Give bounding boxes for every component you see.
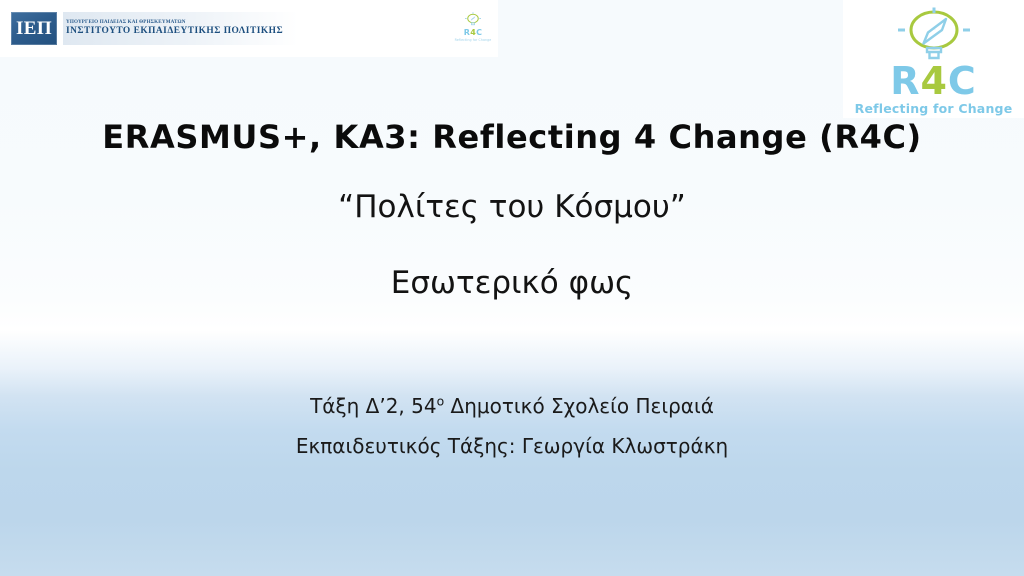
presentation-slide: ΙΕΠ ΥΠΟΥΡΓΕΙΟ ΠΑΙΔΕΙΑΣ ΚΑΙ ΘΡΗΣΚΕΥΜΑΤΩΝ … bbox=[0, 0, 1024, 576]
banner-r4c-logo: R4C Reflecting for Change bbox=[455, 12, 491, 46]
r4c-logo-panel: R4C Reflecting for Change bbox=[843, 0, 1024, 118]
iep-logo-text-block: ΥΠΟΥΡΓΕΙΟ ΠΑΙΔΕΙΑΣ ΚΑΙ ΘΡΗΣΚΕΥΜΑΤΩΝ ΙΝΣΤ… bbox=[63, 12, 298, 45]
banner-r4c-tagline: Reflecting for Change bbox=[455, 38, 492, 42]
slide-title: ERASMUS+, ΚΑ3: Reflecting 4 Change (R4C) bbox=[0, 118, 1024, 156]
credit-class-suffix: Δημοτικό Σχολείο Πειραιά bbox=[444, 394, 714, 418]
slide-subtitle-quote: “Πολίτες του Κόσμου” bbox=[0, 189, 1024, 226]
credit-teacher-line: Εκπαιδευτικός Τάξης: Γεωργία Κλωστράκη bbox=[0, 434, 1024, 458]
iep-institute-line: ΙΝΣΤΙΤΟΥΤΟ ΕΚΠΑΙΔΕΥΤΙΚΗΣ ΠΟΛΙΤΙΚΗΣ bbox=[66, 26, 298, 38]
iep-logo-mark-text: ΙΕΠ bbox=[16, 19, 52, 38]
credit-class-line: Τάξη Δ’2, 54ο Δημοτικό Σχολείο Πειραιά bbox=[0, 394, 1024, 418]
r4c-letter-4: 4 bbox=[920, 59, 947, 103]
iep-logo: ΙΕΠ ΥΠΟΥΡΓΕΙΟ ΠΑΙΔΕΙΑΣ ΚΑΙ ΘΡΗΣΚΕΥΜΑΤΩΝ … bbox=[11, 12, 298, 45]
banner-lightbulb-compass-icon bbox=[462, 12, 484, 28]
iep-header-banner: ΙΕΠ ΥΠΟΥΡΓΕΙΟ ΠΑΙΔΕΙΑΣ ΚΑΙ ΘΡΗΣΚΕΥΜΑΤΩΝ … bbox=[0, 0, 498, 57]
iep-logo-mark: ΙΕΠ bbox=[11, 12, 57, 45]
r4c-letter-c: C bbox=[948, 59, 977, 103]
slide-subtitle-theme: Εσωτερικό φως bbox=[0, 265, 1024, 302]
banner-r4c-letter-c: C bbox=[476, 28, 482, 37]
r4c-letter-r: R bbox=[890, 59, 920, 103]
r4c-wordmark: R4C bbox=[890, 62, 977, 100]
r4c-tagline: Reflecting for Change bbox=[855, 103, 1013, 116]
banner-r4c-wordmark: R4C bbox=[464, 29, 483, 37]
credit-class-prefix: Τάξη Δ’2, 54 bbox=[310, 394, 437, 418]
lightbulb-compass-icon bbox=[884, 6, 984, 64]
